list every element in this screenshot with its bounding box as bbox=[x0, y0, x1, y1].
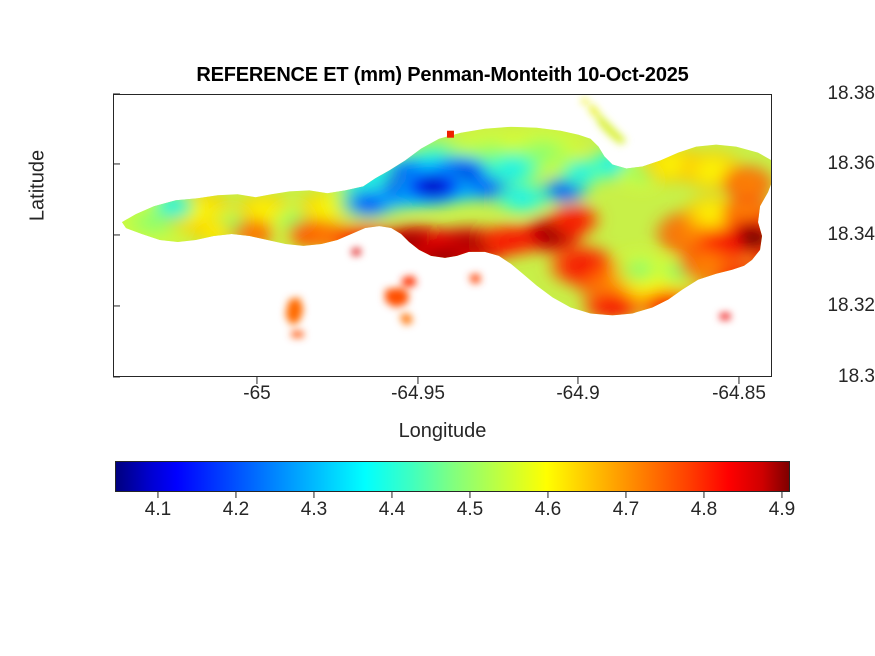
colorbar-label-4-5: 4.5 bbox=[430, 499, 510, 521]
colorbar[interactable] bbox=[115, 461, 790, 492]
y-tick-mark bbox=[113, 305, 120, 306]
y-tick-label-18-34: 18.34 bbox=[779, 224, 875, 246]
colorbar-label-4-2: 4.2 bbox=[196, 499, 276, 521]
colorbar-label-4-9: 4.9 bbox=[742, 499, 822, 521]
x-tick-label-minus65: -65 bbox=[197, 383, 317, 405]
map-plot-area[interactable] bbox=[113, 94, 772, 377]
x-axis-label: Longitude bbox=[113, 420, 772, 443]
colorbar-label-4-4: 4.4 bbox=[352, 499, 432, 521]
colorbar-tick bbox=[703, 492, 704, 498]
y-axis-label: Latitude bbox=[27, 86, 50, 286]
y-tick-mark bbox=[113, 93, 120, 94]
colorbar-label-4-3: 4.3 bbox=[274, 499, 354, 521]
x-tick-label-minus64-85: -64.85 bbox=[679, 383, 799, 405]
y-tick-mark bbox=[113, 234, 120, 235]
page-title: REFERENCE ET (mm) Penman-Monteith 10-Oct… bbox=[113, 64, 772, 87]
y-tick-label-18-38: 18.38 bbox=[779, 83, 875, 105]
y-tick-mark bbox=[113, 376, 120, 377]
x-tick-label-minus64-9: -64.9 bbox=[518, 383, 638, 405]
colorbar-tick bbox=[469, 492, 470, 498]
colorbar-tick bbox=[547, 492, 548, 498]
x-tick-label-minus64-95: -64.95 bbox=[358, 383, 478, 405]
colorbar-tick bbox=[781, 492, 782, 498]
et-heatmap bbox=[114, 95, 771, 376]
figure-canvas: REFERENCE ET (mm) Penman-Monteith 10-Oct… bbox=[0, 0, 875, 656]
colorbar-label-4-6: 4.6 bbox=[508, 499, 588, 521]
y-tick-label-18-36: 18.36 bbox=[779, 153, 875, 175]
colorbar-tick bbox=[625, 492, 626, 498]
colorbar-label-4-8: 4.8 bbox=[664, 499, 744, 521]
colorbar-tick bbox=[391, 492, 392, 498]
y-tick-mark bbox=[113, 163, 120, 164]
colorbar-label-4-7: 4.7 bbox=[586, 499, 666, 521]
y-tick-label-18-32: 18.32 bbox=[779, 295, 875, 317]
colorbar-tick bbox=[313, 492, 314, 498]
colorbar-tick bbox=[157, 492, 158, 498]
colorbar-tick bbox=[235, 492, 236, 498]
colorbar-label-4-1: 4.1 bbox=[118, 499, 198, 521]
